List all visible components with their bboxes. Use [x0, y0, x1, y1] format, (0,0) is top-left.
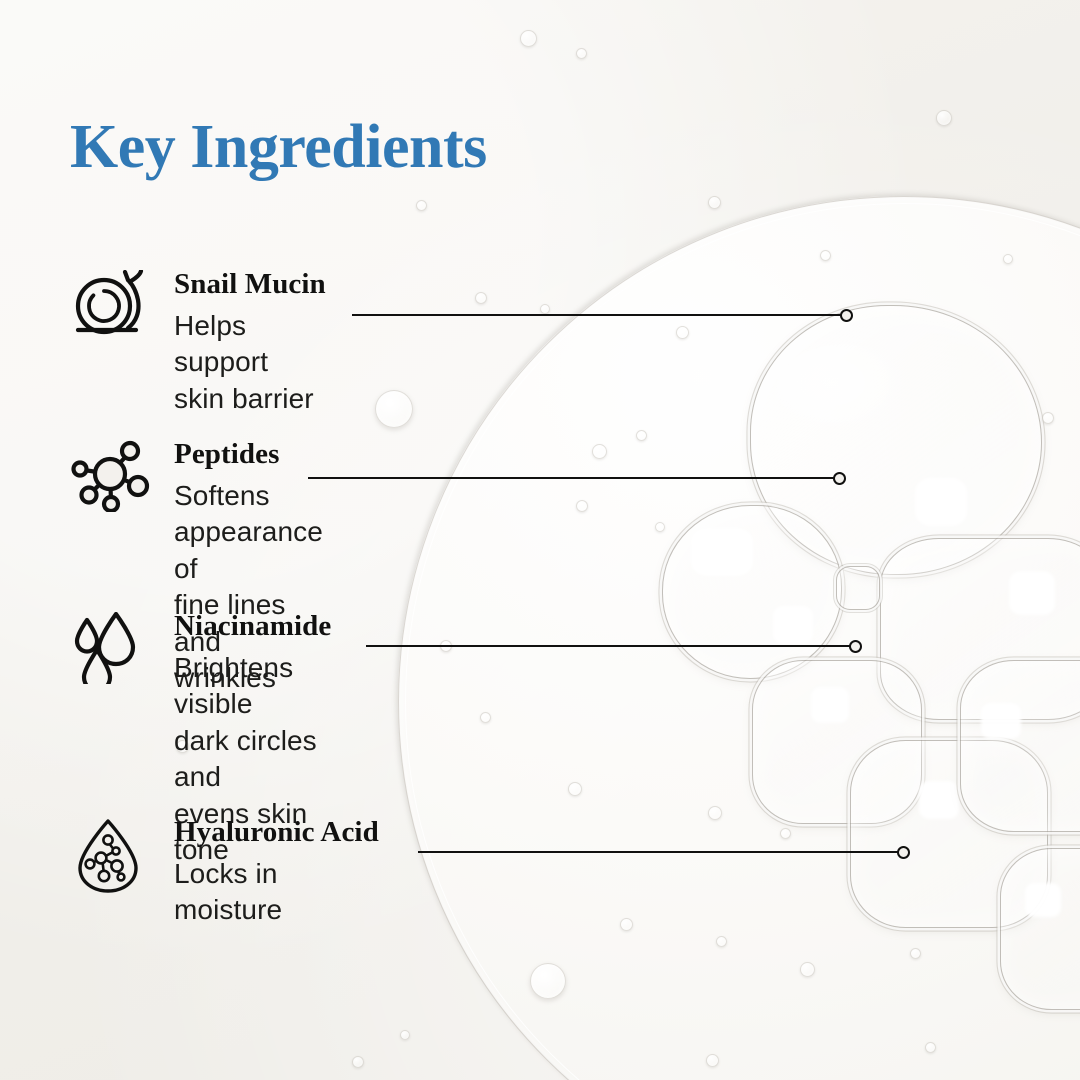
droplet-molecule-icon [70, 818, 154, 894]
leader-dot-peptides [833, 472, 846, 485]
water-droplet [655, 522, 665, 532]
ingredient-name: Peptides [174, 440, 323, 469]
snail-icon [70, 270, 154, 338]
serum-bubble-small [836, 566, 880, 610]
water-droplet [708, 806, 722, 820]
water-droplet [520, 30, 537, 47]
leader-line-hyaluronic-acid [418, 851, 900, 853]
water-droplet [475, 292, 487, 304]
water-droplet [780, 828, 791, 839]
water-droplet [706, 1054, 719, 1067]
water-droplet [1042, 412, 1054, 424]
serum-bubble [750, 305, 1042, 575]
ingredient-description: Locks in moisture [174, 856, 379, 929]
water-droplet [480, 712, 491, 723]
water-droplet [400, 1030, 410, 1040]
leader-dot-niacinamide [849, 640, 862, 653]
page-title: Key Ingredients [70, 112, 487, 183]
water-droplet [636, 430, 647, 441]
ingredient-text-block: Hyaluronic Acid Locks in moisture [174, 818, 379, 929]
water-droplet [375, 390, 413, 428]
water-droplet [352, 1056, 364, 1068]
leader-line-niacinamide [366, 645, 852, 647]
ingredient-name: Niacinamide [174, 612, 331, 641]
water-droplet [820, 250, 831, 261]
serum-puddle [398, 196, 1080, 1080]
water-droplet [716, 936, 727, 947]
ingredient-name: Snail Mucin [174, 270, 326, 299]
ingredient-description: Helps support skin barrier [174, 308, 326, 417]
water-droplet [540, 304, 550, 314]
serum-bubble [850, 740, 1048, 928]
water-droplet [1003, 254, 1013, 264]
serum-puddle-inner-rim [405, 203, 1080, 1080]
water-droplet [568, 782, 582, 796]
water-droplet [936, 110, 952, 126]
serum-bubble [960, 660, 1080, 832]
molecule-icon [70, 440, 154, 512]
infographic-canvas: Key Ingredients Snail Mucin Helps sup [0, 0, 1080, 1080]
ingredient-name: Hyaluronic Acid [174, 818, 379, 847]
water-droplet [708, 196, 721, 209]
water-droplet [530, 963, 566, 999]
serum-bubble [1000, 848, 1080, 1010]
leader-dot-snail-mucin [840, 309, 853, 322]
water-droplet [592, 444, 607, 459]
serum-bubble [662, 505, 842, 679]
leader-line-snail-mucin [352, 314, 842, 316]
serum-bubble [752, 660, 922, 824]
water-droplet [925, 1042, 936, 1053]
serum-puddle-rim [398, 196, 1080, 1080]
water-droplet [620, 918, 633, 931]
water-droplet [576, 500, 588, 512]
serum-bubble [880, 538, 1080, 720]
water-droplet [416, 200, 427, 211]
leader-dot-hyaluronic-acid [897, 846, 910, 859]
water-droplet [576, 48, 587, 59]
leader-line-peptides [308, 477, 836, 479]
ingredient-text-block: Snail Mucin Helps support skin barrier [174, 270, 326, 417]
water-droplets-icon [70, 612, 154, 684]
water-droplet [910, 948, 921, 959]
water-droplet [800, 962, 815, 977]
water-droplet [676, 326, 689, 339]
